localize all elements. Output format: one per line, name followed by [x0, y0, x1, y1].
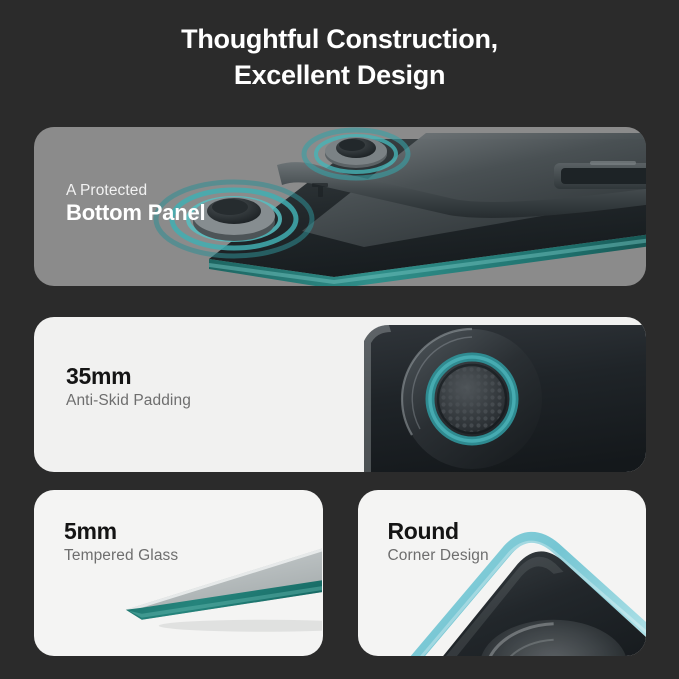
round-corner-headline: Round: [388, 518, 489, 546]
feature-card-list: A Protected Bottom Panel: [34, 127, 646, 656]
bottom-card-row: 5mm Tempered Glass: [34, 490, 646, 656]
page-title: Thoughtful Construction, Excellent Desig…: [0, 0, 679, 93]
tempered-glass-headline: 5mm: [64, 518, 178, 546]
anti-skid-padding-text-block: 35mm Anti-Skid Padding: [66, 363, 191, 411]
feature-card-tempered-glass: 5mm Tempered Glass: [34, 490, 323, 656]
round-corner-illustration: [358, 490, 646, 656]
round-corner-text-block: Round Corner Design: [388, 518, 489, 566]
tempered-glass-text-block: 5mm Tempered Glass: [64, 518, 178, 566]
tempered-glass-sub: Tempered Glass: [64, 546, 178, 566]
feature-card-bottom-panel: A Protected Bottom Panel: [34, 127, 646, 286]
anti-skid-padding-headline: 35mm: [66, 363, 191, 391]
anti-skid-pad-teal-ring: [430, 357, 514, 441]
bottom-panel-headline: Bottom Panel: [66, 200, 205, 227]
battery-compartment-icon: [554, 161, 646, 189]
round-corner-sub: Corner Design: [388, 546, 489, 566]
feature-card-anti-skid-padding: 35mm Anti-Skid Padding: [34, 317, 646, 472]
bottom-panel-text-block: A Protected Bottom Panel: [66, 181, 205, 227]
tempered-glass-illustration: [34, 490, 322, 656]
bottom-panel-eyebrow: A Protected: [66, 181, 205, 200]
page-title-line-1: Thoughtful Construction,: [0, 22, 679, 58]
anti-skid-padding-sub: Anti-Skid Padding: [66, 391, 191, 411]
page-title-line-2: Excellent Design: [0, 58, 679, 94]
feature-card-round-corner: Round Corner Design: [358, 490, 647, 656]
